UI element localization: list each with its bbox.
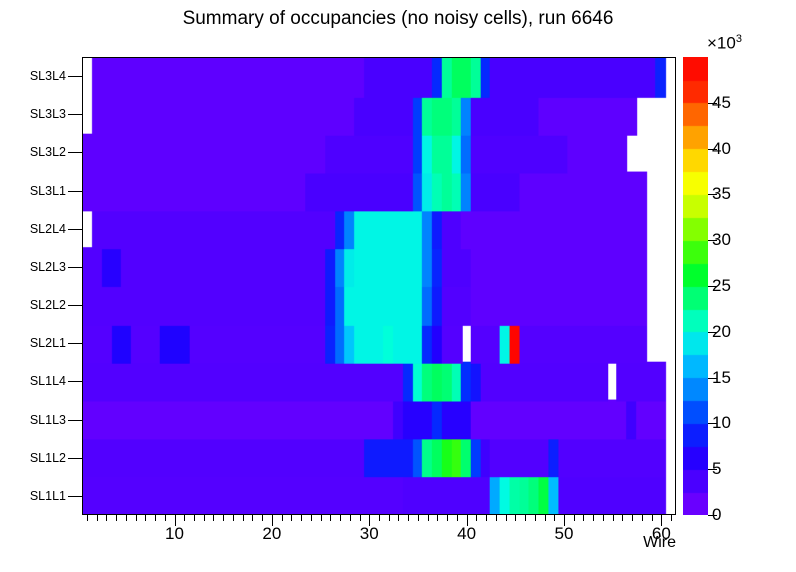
y-axis-tick xyxy=(68,191,82,192)
x-axis-tick xyxy=(97,515,98,521)
x-axis-tick xyxy=(262,515,263,521)
chart-canvas: Summary of occupancies (no noisy cells),… xyxy=(0,0,796,572)
x-axis-tick xyxy=(593,515,594,521)
y-axis-tick xyxy=(68,458,82,459)
color-scale-tick-labels: 051015202530354045 xyxy=(712,57,792,515)
x-axis-tick xyxy=(194,515,195,521)
x-axis-tick xyxy=(545,515,546,521)
y-axis-tick xyxy=(68,343,82,344)
x-axis-tick xyxy=(642,515,643,521)
x-axis-tick xyxy=(447,515,448,521)
x-axis-tick xyxy=(145,515,146,521)
x-axis-tick xyxy=(554,515,555,521)
x-axis-tick xyxy=(126,515,127,521)
y-axis-tick xyxy=(68,267,82,268)
x-axis-tick xyxy=(535,515,536,521)
x-axis-tick xyxy=(116,515,117,521)
x-axis-tick xyxy=(671,515,672,521)
color-scale-label-25: 25 xyxy=(712,276,731,296)
x-axis-tick xyxy=(574,515,575,521)
y-axis-tick xyxy=(68,114,82,115)
heatmap-cells xyxy=(83,58,675,514)
x-axis-tick xyxy=(311,515,312,521)
color-scale-label-30: 30 xyxy=(712,230,731,250)
x-axis-tick xyxy=(291,515,292,521)
y-axis-ticks xyxy=(0,57,82,515)
x-axis-tick xyxy=(476,515,477,521)
x-axis-tick xyxy=(223,515,224,521)
x-axis-tick xyxy=(622,515,623,521)
x-axis-tick xyxy=(233,515,234,521)
page-title: Summary of occupancies (no noisy cells),… xyxy=(0,8,796,30)
x-axis-tick xyxy=(652,515,653,521)
x-axis-tick xyxy=(457,515,458,521)
y-axis-tick xyxy=(68,305,82,306)
color-scale-label-20: 20 xyxy=(712,322,731,342)
x-axis-tick xyxy=(136,515,137,521)
x-axis-tick xyxy=(515,515,516,521)
heatmap-plot-area[interactable] xyxy=(82,57,676,515)
x-axis-tick xyxy=(243,515,244,521)
x-axis-tick xyxy=(408,515,409,521)
x-axis-tick xyxy=(398,515,399,521)
x-axis-tick xyxy=(165,515,166,521)
x-axis-tick xyxy=(321,515,322,521)
color-scale-label-40: 40 xyxy=(712,139,731,159)
x-axis-tick xyxy=(632,515,633,521)
x-axis-tick xyxy=(613,515,614,521)
x-axis-tick xyxy=(506,515,507,521)
x-axis-tick xyxy=(155,515,156,521)
x-axis-tick xyxy=(282,515,283,521)
color-scale-label-45: 45 xyxy=(712,93,731,113)
x-axis-tick xyxy=(184,515,185,521)
x-axis-tick xyxy=(389,515,390,521)
y-axis-tick xyxy=(68,76,82,77)
x-axis-tick xyxy=(252,515,253,521)
x-axis-tick xyxy=(301,515,302,521)
x-axis-tick xyxy=(418,515,419,521)
x-axis-tick xyxy=(330,515,331,521)
x-axis-tick xyxy=(437,515,438,521)
x-axis-tick xyxy=(204,515,205,521)
x-axis-tick xyxy=(583,515,584,521)
color-scale-label-10: 10 xyxy=(712,413,731,433)
y-axis-tick xyxy=(68,229,82,230)
x-axis-tick xyxy=(213,515,214,521)
x-axis-tick xyxy=(496,515,497,521)
x-axis-tick xyxy=(106,515,107,521)
x-axis-title: Wire xyxy=(0,534,676,552)
x-axis-tick xyxy=(340,515,341,521)
x-axis-tick xyxy=(87,515,88,521)
color-scale-label-15: 15 xyxy=(712,368,731,388)
color-scale-label-35: 35 xyxy=(712,184,731,204)
x-axis-tick xyxy=(486,515,487,521)
x-axis-tick xyxy=(603,515,604,521)
x-axis-tick xyxy=(360,515,361,521)
color-scale-label-0: 0 xyxy=(712,505,721,525)
x-axis-tick xyxy=(379,515,380,521)
color-scale-label-5: 5 xyxy=(712,459,721,479)
y-axis-tick xyxy=(68,496,82,497)
color-scale-exponent: ×103 xyxy=(707,33,742,54)
y-axis-tick xyxy=(68,420,82,421)
y-axis-tick xyxy=(68,381,82,382)
x-axis-tick xyxy=(525,515,526,521)
y-axis-tick xyxy=(68,152,82,153)
x-axis-tick xyxy=(428,515,429,521)
x-axis-tick xyxy=(350,515,351,521)
